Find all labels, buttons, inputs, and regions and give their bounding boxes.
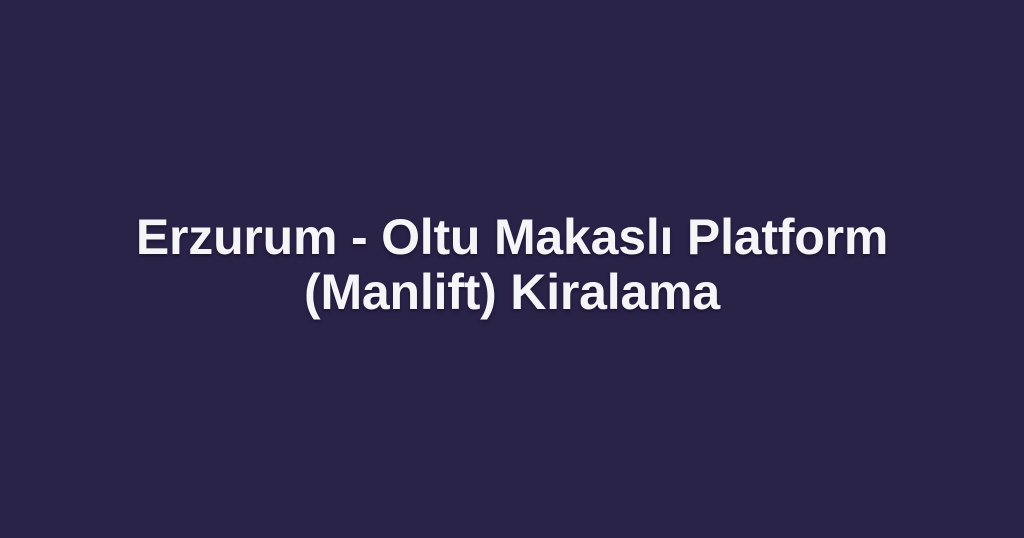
headline-block: Erzurum - Oltu Makaslı Platform (Manlift… bbox=[72, 210, 952, 320]
share-card: Erzurum - Oltu Makaslı Platform (Manlift… bbox=[0, 0, 1024, 538]
page-title: Erzurum - Oltu Makaslı Platform (Manlift… bbox=[96, 210, 928, 320]
